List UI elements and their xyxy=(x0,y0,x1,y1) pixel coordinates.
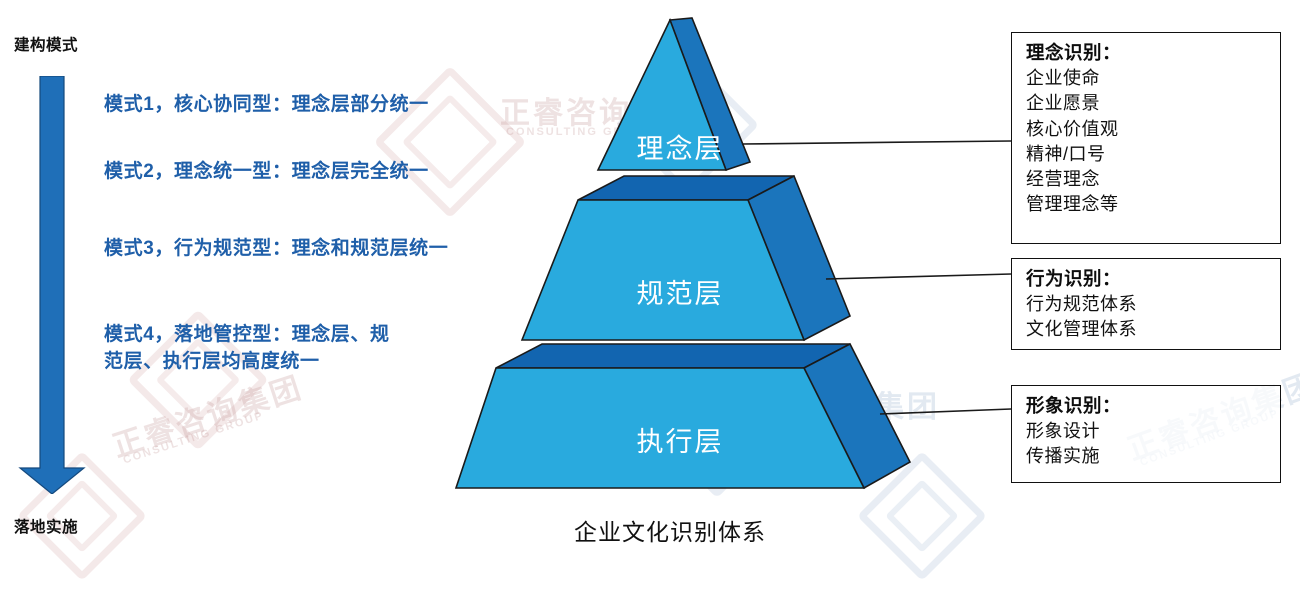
watermark-brand-text: 正睿咨询集团 xyxy=(106,362,308,465)
mode-item-4: 模式4，落地管控型：理念层、规范层、执行层均高度统一 xyxy=(104,322,404,376)
pyramid-tier-bottom-bevel xyxy=(496,344,850,368)
identity-box-title: 形象识别： xyxy=(1026,393,1270,419)
slide-canvas: 正睿咨询集团 CONSULTING GROUP 正睿咨询集团 CONSULTIN… xyxy=(0,0,1300,590)
identity-box-title: 理念识别： xyxy=(1026,40,1270,66)
identity-box-item: 行为规范体系 xyxy=(1026,292,1270,317)
identity-box-title: 行为识别： xyxy=(1026,266,1270,292)
identity-box-item: 核心价值观 xyxy=(1026,117,1270,142)
identity-box-item: 形象设计 xyxy=(1026,419,1270,444)
identity-box-behaviour: 行为识别： 行为规范体系 文化管理体系 xyxy=(1011,258,1281,350)
identity-box-item: 企业愿景 xyxy=(1026,91,1270,116)
identity-box-item: 企业使命 xyxy=(1026,66,1270,91)
identity-box-item: 经营理念 xyxy=(1026,167,1270,192)
identity-box-philosophy: 理念识别： 企业使命 企业愿景 核心价值观 精神/口号 经营理念 管理理念等 xyxy=(1011,32,1281,244)
pyramid-caption: 企业文化识别体系 xyxy=(520,513,820,547)
mode-item-1: 模式1，核心协同型：理念层部分统一 xyxy=(104,92,429,119)
identity-box-item: 传播实施 xyxy=(1026,444,1270,469)
identity-box-item: 精神/口号 xyxy=(1026,142,1270,167)
identity-box-item: 文化管理体系 xyxy=(1026,317,1270,342)
down-arrow-icon xyxy=(18,76,86,494)
implementation-label: 落地实施 xyxy=(14,515,78,537)
identity-box-item: 管理理念等 xyxy=(1026,192,1270,217)
pyramid-tier-bottom-front xyxy=(456,368,864,488)
watermark-brand-sub: CONSULTING GROUP xyxy=(122,410,266,467)
identity-box-visual: 形象识别： 形象设计 传播实施 xyxy=(1011,385,1281,483)
mode-item-3: 模式3，行为规范型：理念和规范层统一 xyxy=(104,236,448,263)
build-mode-label: 建构模式 xyxy=(14,33,78,55)
pyramid-svg xyxy=(430,10,950,520)
mode-item-2: 模式2，理念统一型：理念层完全统一 xyxy=(104,159,429,186)
pyramid-diagram: 理念层 规范层 执行层 xyxy=(430,10,950,520)
